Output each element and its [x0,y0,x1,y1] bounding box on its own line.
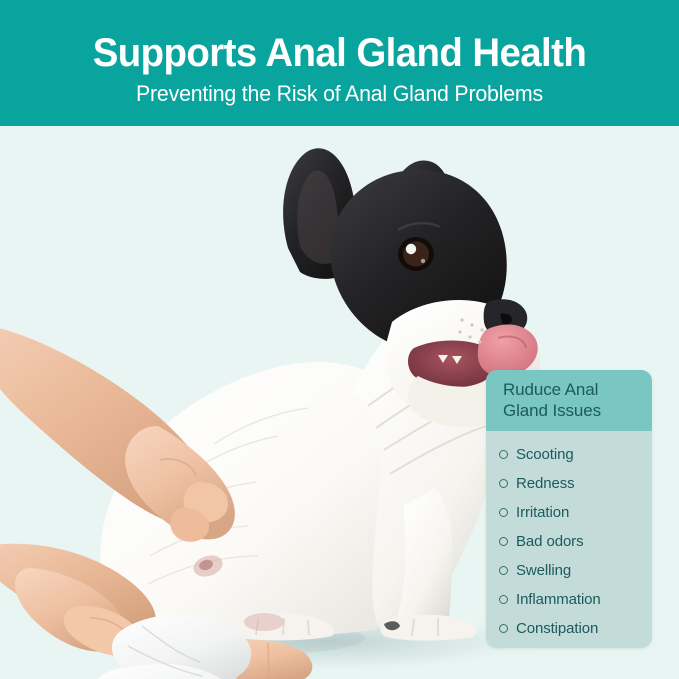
hollow-circle-icon [499,595,508,604]
eye-highlight [406,244,416,254]
list-item-label: Constipation [516,620,598,637]
banner-subtitle: Preventing the Risk of Anal Gland Proble… [10,75,669,107]
product-infographic: Supports Anal Gland Health Preventing th… [0,0,679,679]
hollow-circle-icon [499,450,508,459]
belly-skin-patch [244,613,284,631]
list-item: Bad odors [486,527,652,556]
hollow-circle-icon [499,566,508,575]
hollow-circle-icon [499,624,508,633]
list-item: Constipation [486,614,652,643]
dog-iris [403,242,429,267]
list-item-label: Bad odors [516,533,583,550]
list-item: Inflammation [486,585,652,614]
banner-title: Supports Anal Gland Health [14,0,666,75]
list-item: Irritation [486,498,652,527]
benefits-panel: Ruduce Anal Gland Issues Scooting Rednes… [486,370,652,648]
list-item-label: Redness [516,475,575,492]
eye-highlight-small [421,259,425,263]
header-banner: Supports Anal Gland Health Preventing th… [0,0,679,126]
hollow-circle-icon [499,537,508,546]
benefits-panel-header: Ruduce Anal Gland Issues [486,370,652,431]
list-item: Redness [486,469,652,498]
list-item: Scooting [486,440,652,469]
hollow-circle-icon [499,508,508,517]
list-item-label: Irritation [516,504,569,521]
list-item: Swelling [486,556,652,585]
hollow-circle-icon [499,479,508,488]
list-item-label: Scooting [516,446,574,463]
list-item-label: Swelling [516,562,571,579]
list-item-label: Inflammation [516,591,601,608]
benefits-panel-title: Ruduce Anal Gland Issues [503,379,635,421]
benefits-list: Scooting Redness Irritation Bad odors Sw… [486,431,652,643]
